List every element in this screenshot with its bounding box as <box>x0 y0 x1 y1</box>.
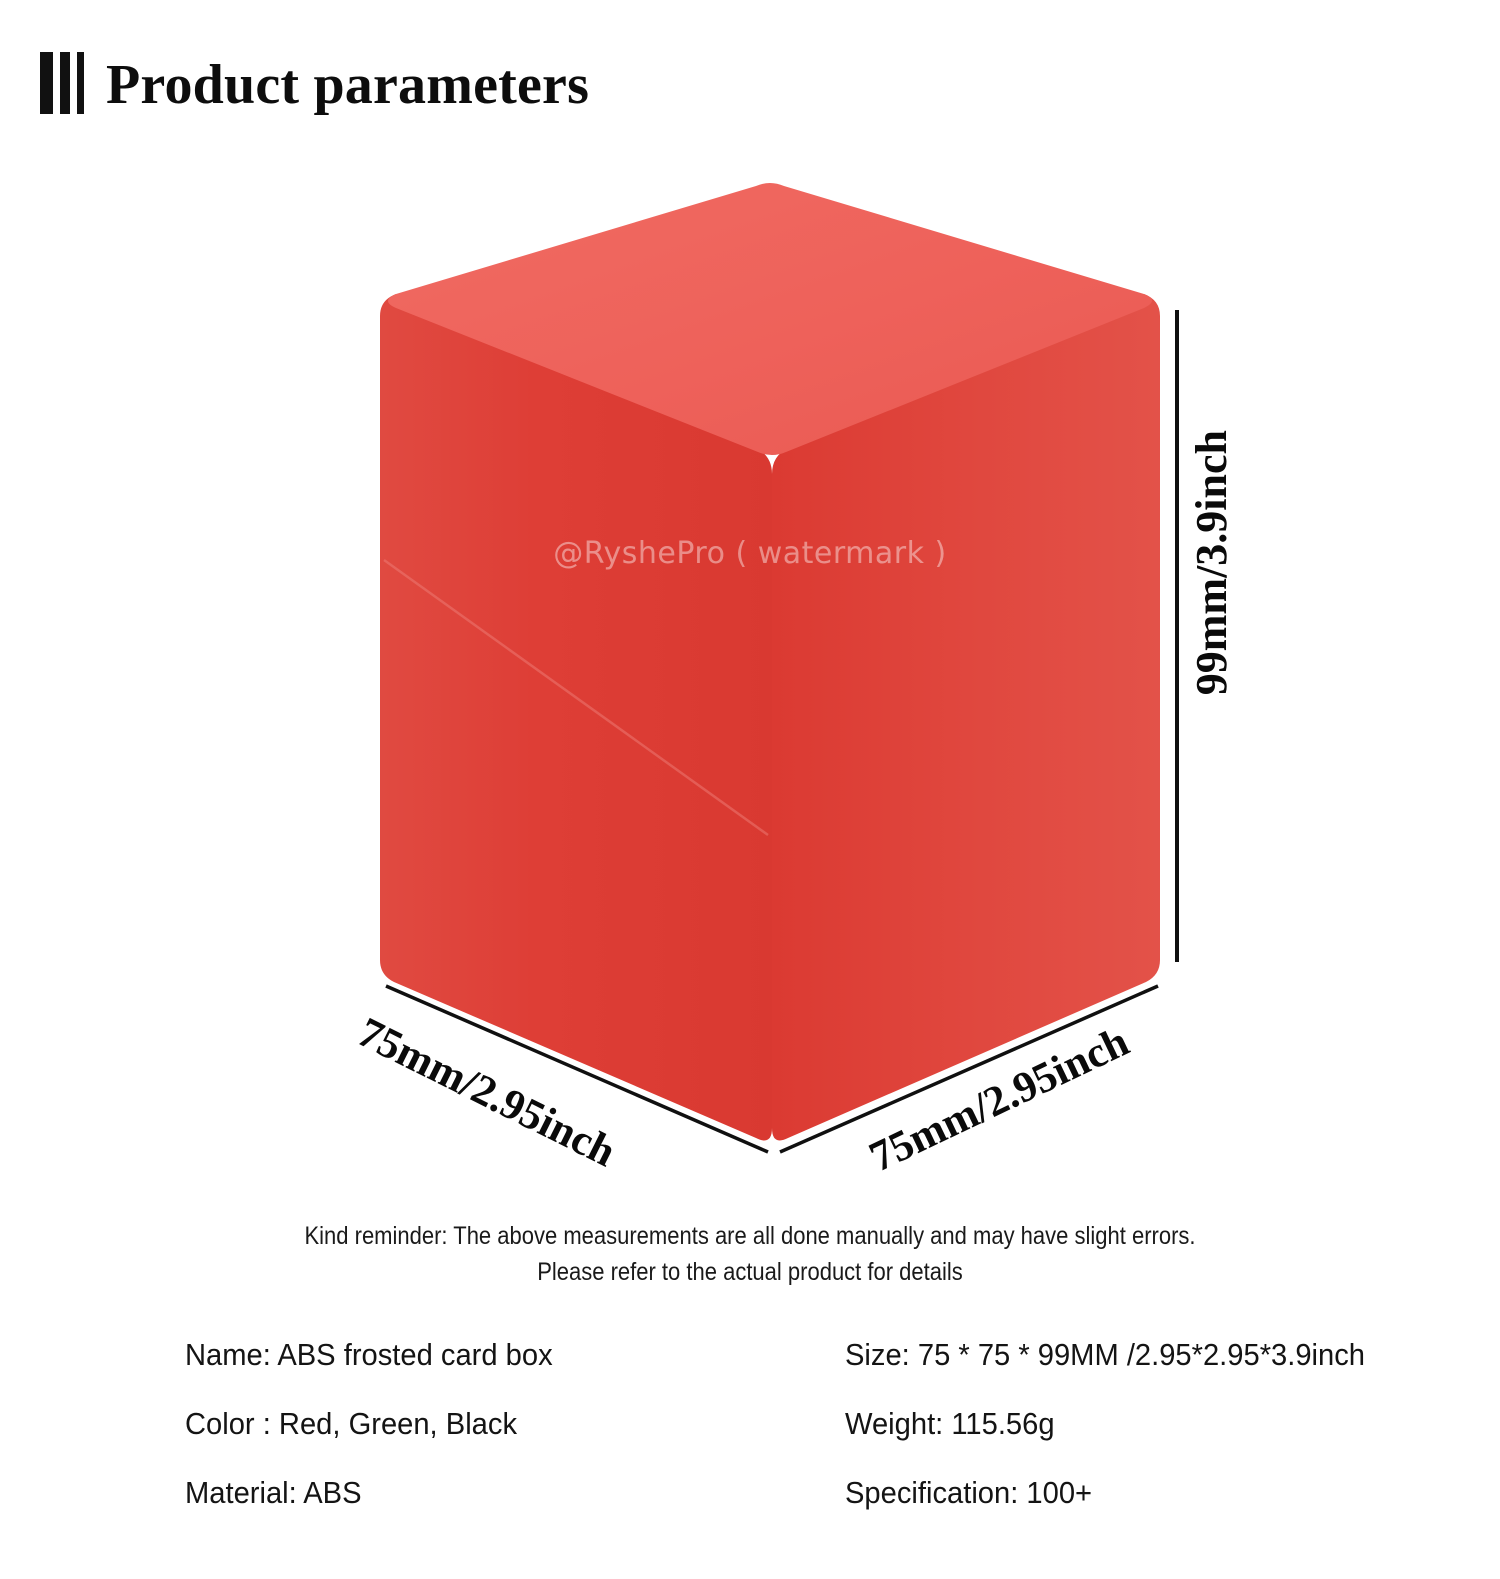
spec-color: Color : Red, Green, Black <box>185 1405 805 1444</box>
product-parameters-page: Product parameters <box>0 0 1500 1579</box>
product-box-3d <box>0 0 1500 1200</box>
height-dimension-label: 99mm/3.9inch <box>1186 430 1237 695</box>
reminder-line-2: Please refer to the actual product for d… <box>90 1254 1410 1290</box>
kind-reminder: Kind reminder: The above measurements ar… <box>90 1218 1410 1290</box>
spec-list: Name: ABS frosted card box Size: 75 * 75… <box>185 1336 1435 1512</box>
reminder-line-1: Kind reminder: The above measurements ar… <box>90 1218 1410 1254</box>
spec-specification: Specification: 100+ <box>845 1474 1400 1513</box>
spec-material: Material: ABS <box>185 1474 805 1513</box>
spec-weight: Weight: 115.56g <box>845 1405 1400 1444</box>
spec-size: Size: 75 * 75 * 99MM /2.95*2.95*3.9inch <box>845 1336 1400 1375</box>
spec-name: Name: ABS frosted card box <box>185 1336 805 1375</box>
product-illustration: @RyshePro ( watermark ) <box>0 0 1500 1200</box>
